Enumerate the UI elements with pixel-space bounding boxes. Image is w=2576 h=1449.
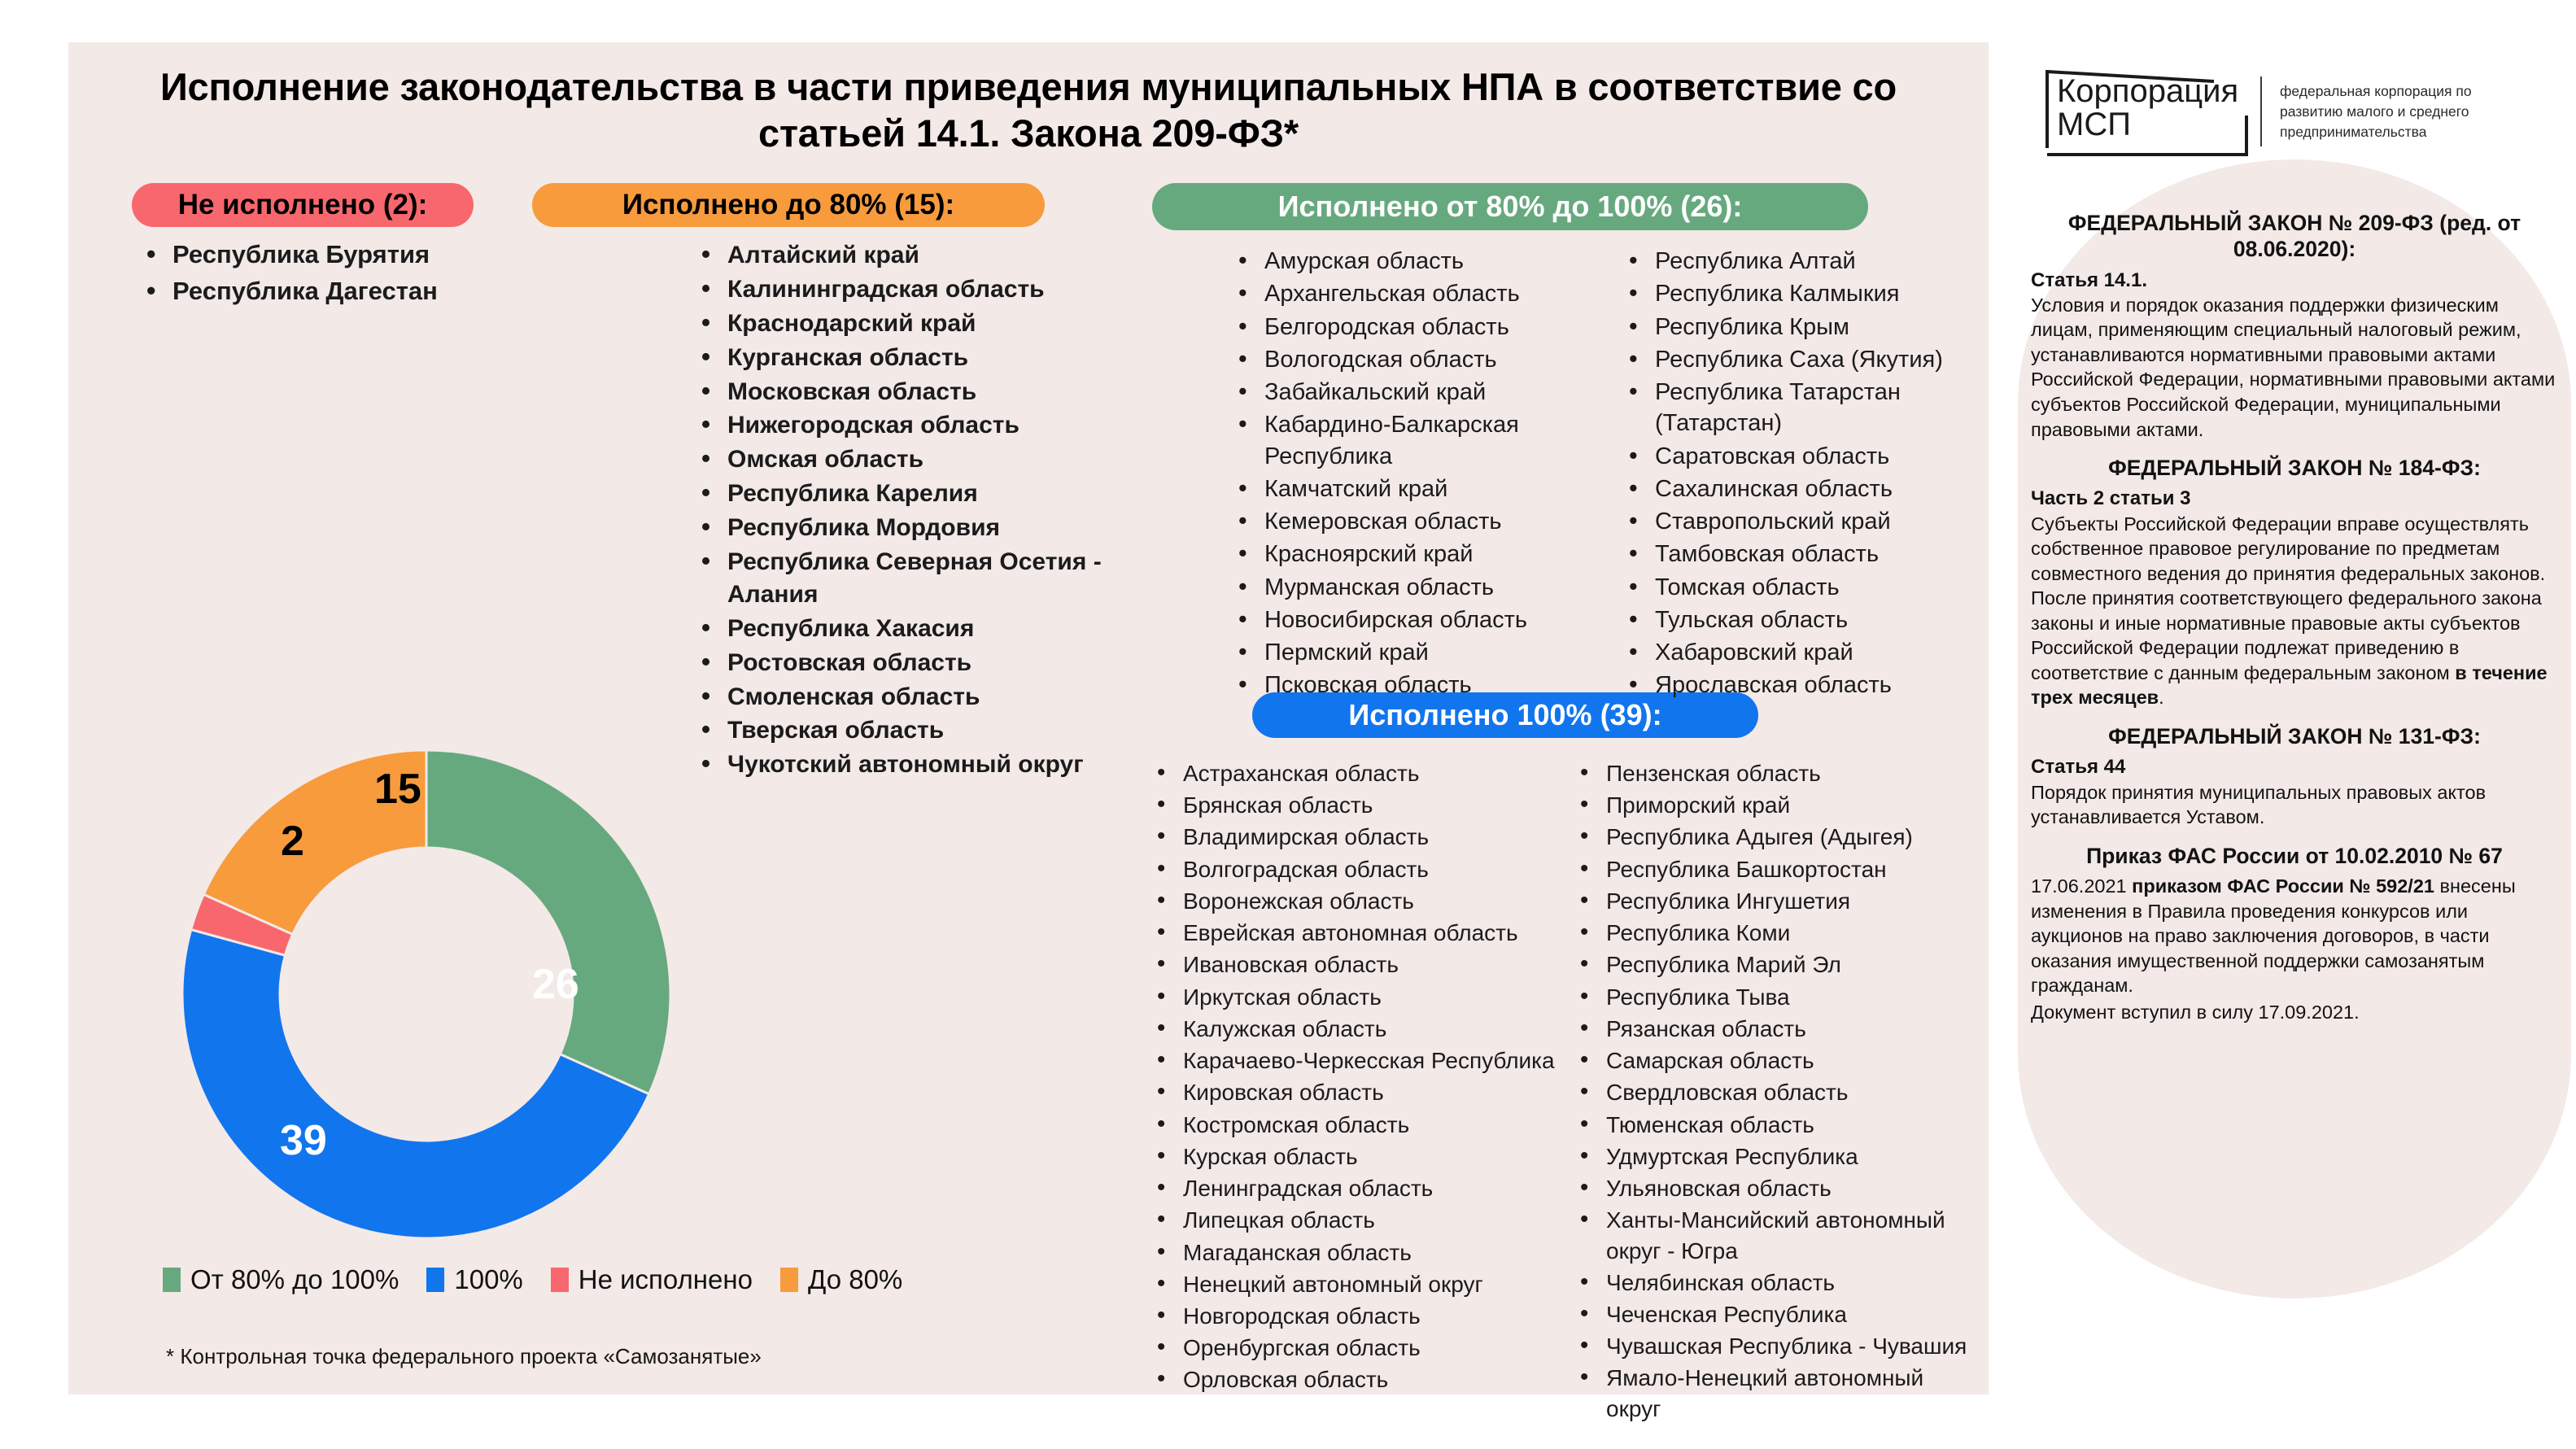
list-item: Астраханская область bbox=[1150, 758, 1557, 788]
list-item: Республика Хакасия bbox=[695, 613, 1183, 645]
list-item: Тверская область bbox=[695, 714, 1183, 747]
footnote: * Контрольная точка федерального проекта… bbox=[166, 1344, 762, 1369]
list-item: Кировская область bbox=[1150, 1077, 1557, 1107]
region-list-80-to-100: Амурская областьАрхангельская областьБел… bbox=[1232, 246, 1989, 703]
list-item: Оренбургская область bbox=[1150, 1333, 1557, 1363]
list-item: Республика Мордовия bbox=[695, 512, 1183, 544]
law-184-article: Часть 2 статьи 3 bbox=[2031, 486, 2558, 511]
region-list-done-100: Астраханская областьБрянская областьВлад… bbox=[1150, 758, 1989, 1425]
fas-order-heading: Приказ ФАС России от 10.02.2010 № 67 bbox=[2031, 843, 2558, 869]
list-item: Волгоградская область bbox=[1150, 854, 1557, 884]
legal-reference-panel: ФЕДЕРАЛЬНЫЙ ЗАКОН № 209-ФЗ (ред. от 08.0… bbox=[2031, 210, 2558, 1026]
list-item: Еврейская автономная область bbox=[1150, 918, 1557, 948]
list-item: Костромская область bbox=[1150, 1110, 1557, 1140]
list-item: Архангельская область bbox=[1232, 278, 1598, 309]
category-badge-80-to-100: Исполнено от 80% до 100% (26): bbox=[1152, 183, 1868, 230]
list-item: Республика Марий Эл bbox=[1574, 949, 1980, 980]
legend-swatch-icon bbox=[780, 1268, 798, 1292]
list-item: Московская область bbox=[695, 376, 1183, 408]
list-item: Курганская область bbox=[695, 342, 1183, 374]
list-item: Амурская область bbox=[1232, 246, 1598, 277]
legend-label: До 80% bbox=[808, 1264, 902, 1295]
page-title: Исполнение законодательства в части прив… bbox=[117, 63, 1940, 157]
list-item: Республика Дагестан bbox=[140, 274, 514, 309]
list-item: Республика Татарстан (Татарстан) bbox=[1622, 377, 1989, 439]
list-item: Липецкая область bbox=[1150, 1205, 1557, 1235]
logo-subtitle: федеральная корпорация по развитию малог… bbox=[2280, 81, 2535, 142]
list-item: Республика Ингушетия bbox=[1574, 886, 1980, 916]
list-item: Республика Карелия bbox=[695, 478, 1183, 510]
list-item: Челябинская область bbox=[1574, 1268, 1980, 1298]
list-item: Орловская область bbox=[1150, 1364, 1557, 1394]
list-item: Забайкальский край bbox=[1232, 377, 1598, 408]
list-item: Ульяновская область bbox=[1574, 1173, 1980, 1203]
list-item: Владимирская область bbox=[1150, 822, 1557, 852]
list-item: Республика Северная Осетия - Алания bbox=[695, 546, 1183, 611]
region-list-done-100-col1: Астраханская областьБрянская областьВлад… bbox=[1150, 758, 1557, 1425]
list-item: Брянская область bbox=[1150, 790, 1557, 820]
list-item: Псковская область bbox=[1232, 670, 1598, 700]
chart-legend: От 80% до 100%100%Не исполненоДо 80% bbox=[163, 1264, 902, 1295]
region-list-under-80: Алтайский крайКалининградская областьКра… bbox=[695, 239, 1183, 783]
region-list-80-to-100-col2: Республика АлтайРеспублика КалмыкияРеспу… bbox=[1622, 246, 1989, 703]
law-131-heading: ФЕДЕРАЛЬНЫЙ ЗАКОН № 131-ФЗ: bbox=[2031, 723, 2558, 749]
logo-wordmark-line1: Корпорация bbox=[2057, 75, 2238, 108]
legend-label: От 80% до 100% bbox=[190, 1264, 399, 1295]
list-item: Республика Саха (Якутия) bbox=[1622, 344, 1989, 375]
list-item: Пермский край bbox=[1232, 637, 1598, 668]
legend-swatch-icon bbox=[163, 1268, 181, 1292]
logo-divider bbox=[2260, 76, 2262, 146]
list-item: Ивановская область bbox=[1150, 949, 1557, 980]
law-209-text: Условия и порядок оказания поддержки физ… bbox=[2031, 293, 2558, 442]
list-item: Нижегородская область bbox=[695, 409, 1183, 442]
list-item: Иркутская область bbox=[1150, 982, 1557, 1012]
list-item: Республика Тыва bbox=[1574, 982, 1980, 1012]
list-item: Камчатский край bbox=[1232, 474, 1598, 504]
donut-chart: 26 39 2 15 bbox=[174, 742, 679, 1246]
category-badge-not-done: Не исполнено (2): bbox=[132, 183, 474, 227]
list-item: Саратовская область bbox=[1622, 441, 1989, 472]
law-209-article: Статья 14.1. bbox=[2031, 268, 2558, 293]
list-item: Республика Адыгея (Адыгея) bbox=[1574, 822, 1980, 852]
law-131-article: Статья 44 bbox=[2031, 754, 2558, 779]
list-item: Кабардино-Балкарская Республика bbox=[1232, 409, 1598, 472]
list-item: Хабаровский край bbox=[1622, 637, 1989, 668]
list-item: Томская область bbox=[1622, 572, 1989, 603]
law-184-heading: ФЕДЕРАЛЬНЫЙ ЗАКОН № 184-ФЗ: bbox=[2031, 455, 2558, 481]
chart-legend-item: 100% bbox=[426, 1264, 522, 1295]
main-content-panel: Исполнение законодательства в части прив… bbox=[68, 42, 1989, 1394]
list-item: Кемеровская область bbox=[1232, 506, 1598, 537]
region-list-done-100-col2: Пензенская областьПриморский крайРеспубл… bbox=[1574, 758, 1980, 1425]
list-item: Красноярский край bbox=[1232, 539, 1598, 570]
chart-legend-item: До 80% bbox=[780, 1264, 902, 1295]
legend-label: 100% bbox=[454, 1264, 522, 1295]
page-number: 8 bbox=[2363, 1351, 2378, 1382]
list-item: Пензенская область bbox=[1574, 758, 1980, 788]
list-item: Тамбовская область bbox=[1622, 539, 1989, 570]
list-item: Приморский край bbox=[1574, 790, 1980, 820]
list-item: Смоленская область bbox=[695, 681, 1183, 714]
list-item: Чувашская Республика - Чувашия bbox=[1574, 1331, 1980, 1361]
list-item: Республика Коми bbox=[1574, 918, 1980, 948]
list-item: Омская область bbox=[695, 443, 1183, 476]
category-badge-under-80: Исполнено до 80% (15): bbox=[532, 183, 1045, 227]
list-item: Новгородская область bbox=[1150, 1301, 1557, 1331]
list-item: Мурманская область bbox=[1232, 572, 1598, 603]
chart-legend-item: От 80% до 100% bbox=[163, 1264, 399, 1295]
list-item: Ненецкий автономный округ bbox=[1150, 1269, 1557, 1299]
list-item: Ханты-Мансийский автономный округ - Югра bbox=[1574, 1205, 1980, 1265]
list-item: Республика Башкортостан bbox=[1574, 854, 1980, 884]
list-item: Калининградская область bbox=[695, 273, 1183, 306]
list-item: Республика Бурятия bbox=[140, 238, 514, 273]
list-item: Ярославская область bbox=[1622, 670, 1989, 700]
region-list-80-to-100-col1: Амурская областьАрхангельская областьБел… bbox=[1232, 246, 1598, 703]
list-item: Курская область bbox=[1150, 1141, 1557, 1172]
list-item: Воронежская область bbox=[1150, 886, 1557, 916]
slide-root: Исполнение законодательства в части прив… bbox=[0, 0, 2576, 1449]
list-item: Тульская область bbox=[1622, 604, 1989, 635]
logo-wordmark-line2: МСП bbox=[2057, 108, 2238, 142]
law-131-text: Порядок принятия муниципальных правовых … bbox=[2031, 780, 2558, 830]
list-item: Ямало-Ненецкий автономный округ bbox=[1574, 1363, 1980, 1423]
list-item: Самарская область bbox=[1574, 1045, 1980, 1076]
list-item: Ставропольский край bbox=[1622, 506, 1989, 537]
list-item: Краснодарский край bbox=[695, 308, 1183, 340]
donut-slice bbox=[426, 750, 670, 1094]
list-item: Республика Крым bbox=[1622, 312, 1989, 343]
list-item: Республика Алтай bbox=[1622, 246, 1989, 277]
region-list-not-done: Республика БурятияРеспублика Дагестан bbox=[140, 238, 514, 311]
list-item: Тюменская область bbox=[1574, 1110, 1980, 1140]
chart-legend-item: Не исполнено bbox=[551, 1264, 753, 1295]
fas-order-effective-date: Документ вступил в силу 17.09.2021. bbox=[2031, 1000, 2558, 1025]
list-item: Чукотский автономный округ bbox=[695, 749, 1183, 781]
legend-label: Не исполнено bbox=[579, 1264, 753, 1295]
list-item: Рязанская область bbox=[1574, 1014, 1980, 1044]
fas-order-text: 17.06.2021 приказом ФАС России № 592/21 … bbox=[2031, 874, 2558, 998]
list-item: Республика Калмыкия bbox=[1622, 278, 1989, 309]
donut-chart-svg bbox=[174, 742, 679, 1246]
list-item: Чеченская Республика bbox=[1574, 1299, 1980, 1329]
legend-swatch-icon bbox=[551, 1268, 569, 1292]
corporation-msp-logo: Корпорация МСП федеральная корпорация по… bbox=[2039, 63, 2535, 161]
list-item: Вологодская область bbox=[1232, 344, 1598, 375]
list-item: Свердловская область bbox=[1574, 1077, 1980, 1107]
list-item: Сахалинская область bbox=[1622, 474, 1989, 504]
list-item: Новосибирская область bbox=[1232, 604, 1598, 635]
law-209-heading: ФЕДЕРАЛЬНЫЙ ЗАКОН № 209-ФЗ (ред. от 08.0… bbox=[2031, 210, 2558, 263]
list-item: Магаданская область bbox=[1150, 1237, 1557, 1268]
law-184-text: Субъекты Российской Федерации вправе осу… bbox=[2031, 512, 2558, 710]
list-item: Белгородская область bbox=[1232, 312, 1598, 343]
list-item: Ленинградская область bbox=[1150, 1173, 1557, 1203]
list-item: Карачаево-Черкесская Республика bbox=[1150, 1045, 1557, 1076]
list-item: Алтайский край bbox=[695, 239, 1183, 272]
logo-wordmark: Корпорация МСП bbox=[2057, 75, 2238, 142]
list-item: Калужская область bbox=[1150, 1014, 1557, 1044]
donut-slice bbox=[203, 750, 426, 934]
list-item: Ростовская область bbox=[695, 647, 1183, 679]
legend-swatch-icon bbox=[426, 1268, 444, 1292]
list-item: Удмуртская Республика bbox=[1574, 1141, 1980, 1172]
